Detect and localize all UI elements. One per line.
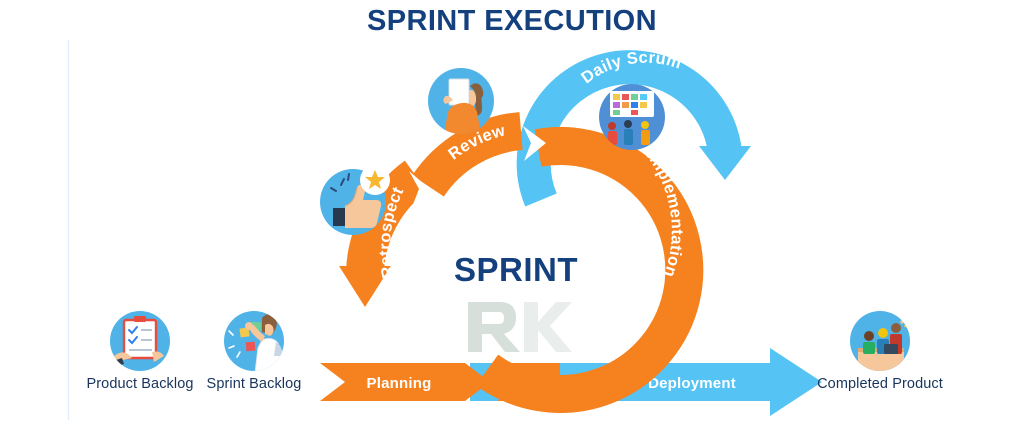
node-completed-product: Completed Product [817,308,943,392]
planning-label: Planning [367,375,432,392]
diagram-canvas: SPRINT EXECUTION Daily Scrum Deployment … [0,0,1024,430]
node-sprint-backlog: Sprint Backlog [207,311,302,392]
deployment-label: Deployment [648,375,736,392]
sprint-center-label: SPRINT [454,251,578,288]
woman-sticky-notes-icon [224,311,284,373]
clipboard-checklist-icon [110,311,170,371]
completed-product-label: Completed Product [817,376,943,392]
node-product-backlog: Product Backlog [86,311,193,392]
team-standup-board-icon [599,84,665,150]
sprint-execution-infographic: SPRINT EXECUTION Daily Scrum Deployment … [0,0,1024,430]
flow-step-planning: Planning [320,363,490,401]
daily-scrum-arrowhead [699,146,751,180]
team-celebration-icon [850,308,918,372]
page-title: SPRINT EXECUTION [367,5,657,37]
rk-watermark-logo [465,300,572,352]
person-document-icon [428,68,494,134]
product-backlog-label: Product Backlog [86,376,193,392]
sprint-backlog-label: Sprint Backlog [207,376,302,392]
